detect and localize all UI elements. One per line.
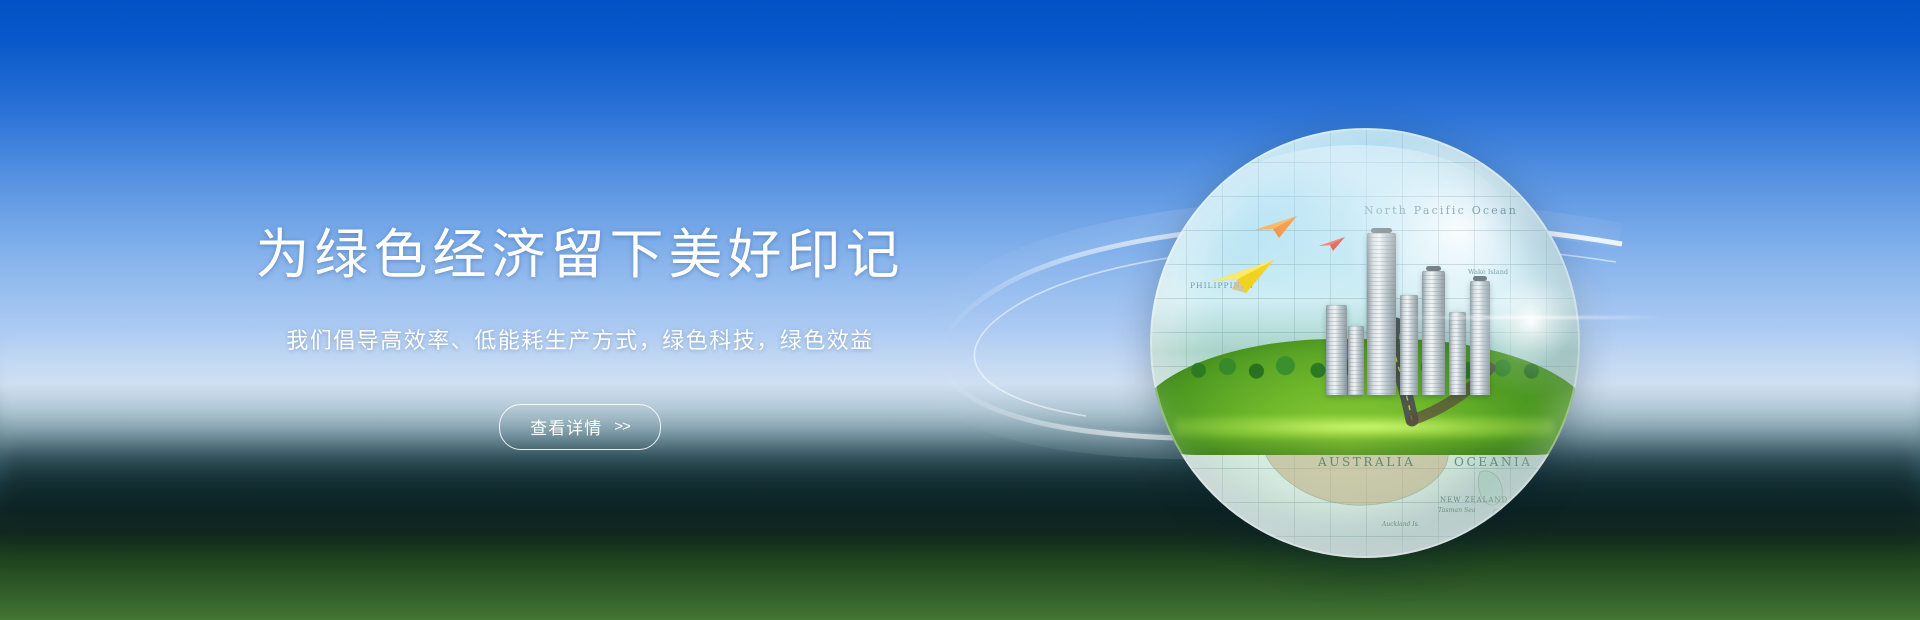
red-paper-plane-icon — [1318, 236, 1346, 252]
globe-graphic: North Pacific Ocean PHILIPPINES Wake Isl… — [1150, 128, 1580, 558]
building-cap — [1473, 276, 1486, 281]
building — [1348, 326, 1363, 395]
cta-row: 查看详情 >> — [0, 404, 1160, 450]
building-cap — [1371, 228, 1392, 233]
building-cap — [1426, 266, 1441, 271]
globe-sphere: North Pacific Ocean PHILIPPINES Wake Isl… — [1150, 128, 1580, 558]
view-details-button[interactable]: 查看详情 >> — [499, 404, 661, 450]
chevron-right-double-icon: >> — [614, 419, 630, 434]
hero-banner: North Pacific Ocean PHILIPPINES Wake Isl… — [0, 0, 1920, 620]
view-details-label: 查看详情 — [530, 414, 602, 439]
building — [1422, 271, 1445, 395]
city-skyline — [1322, 223, 1511, 395]
building — [1367, 233, 1395, 395]
page-subtitle: 我们倡导高效率、低能耗生产方式，绿色科技，绿色效益 — [0, 323, 1160, 355]
orange-paper-plane-icon — [1253, 214, 1299, 240]
page-title: 为绿色经济留下美好印记 — [0, 226, 1160, 284]
yellow-paper-plane-icon — [1210, 257, 1276, 295]
building — [1470, 281, 1491, 395]
building — [1449, 312, 1466, 395]
building — [1326, 305, 1347, 394]
hero-content: 为绿色经济留下美好印记 我们倡导高效率、低能耗生产方式，绿色科技，绿色效益 查看… — [0, 0, 1160, 620]
building — [1400, 295, 1419, 395]
